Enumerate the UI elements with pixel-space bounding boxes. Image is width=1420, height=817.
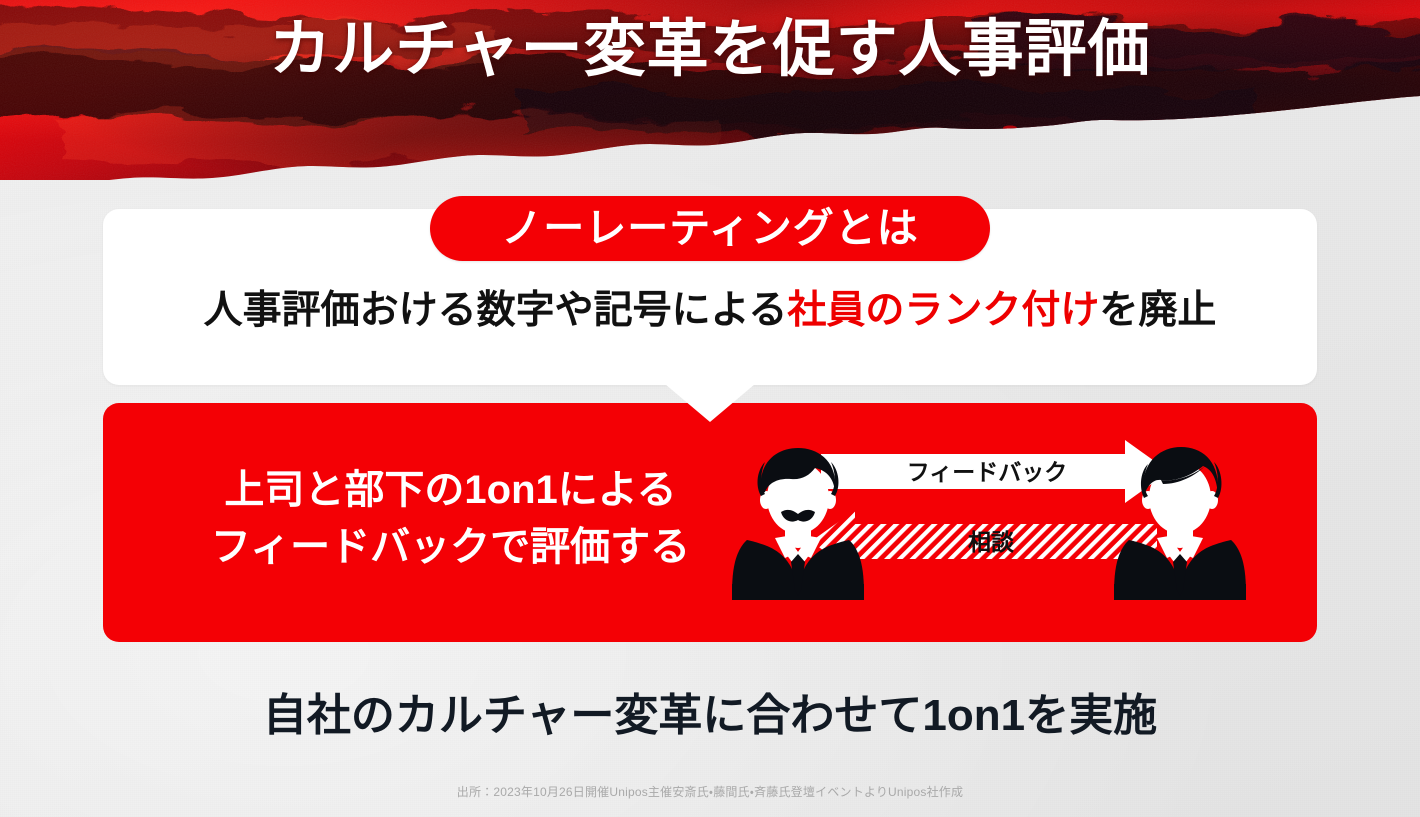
definition-card-pointer: [665, 384, 755, 422]
definition-sentence: 人事評価おける数字や記号による社員のランク付けを廃止: [103, 288, 1317, 335]
feedback-arrow-label: フィードバック: [907, 459, 1068, 485]
source-footnote: 出所：2023年10月26日開催Unipos主催安斎氏・藤間氏・斉藤氏登壇イベン…: [0, 783, 1420, 800]
definition-sentence-suffix: を廃止: [1099, 289, 1216, 332]
consult-arrow-label: 相談: [968, 529, 1014, 555]
definition-sentence-prefix: 人事評価おける数字や記号による: [204, 289, 788, 332]
page-title: カルチャー変革を促す人事評価: [0, 16, 1420, 81]
definition-sentence-highlight: 社員のランク付け: [787, 289, 1099, 332]
slide-root: カルチャー変革を促す人事評価 ノーレーティングとは 人事評価おける数字や記号によ…: [0, 0, 1420, 817]
one-on-one-heading: 上司と部下の1on1による フィードバックで評価する: [178, 462, 723, 576]
one-on-one-heading-line1: 上司と部下の1on1による: [178, 462, 723, 519]
no-rating-badge-label: ノーレーティングとは: [501, 208, 919, 249]
no-rating-badge: ノーレーティングとは: [430, 196, 990, 261]
feedback-loop-diagram: フィードバック 相談: [725, 438, 1255, 608]
one-on-one-heading-line2: フィードバックで評価する: [178, 519, 723, 576]
conclusion-headline: 自社のカルチャー変革に合わせて1on1を実施: [0, 692, 1420, 740]
